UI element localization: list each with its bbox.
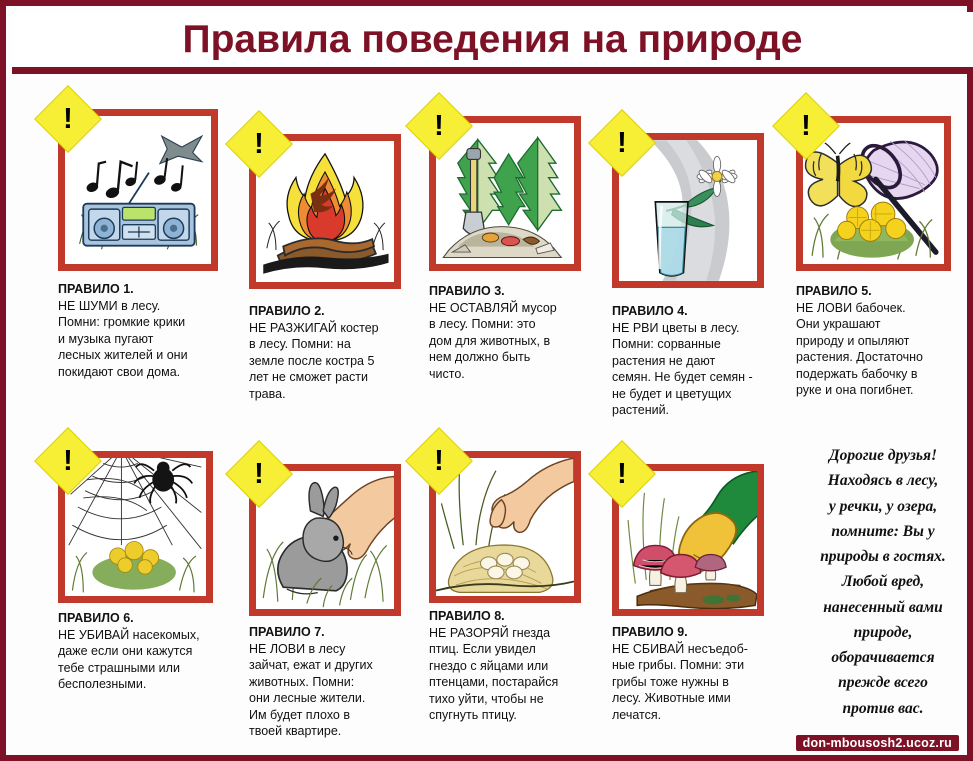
exclamation-icon: !	[45, 96, 91, 142]
rule-number-6: ПРАВИЛО 6.	[58, 610, 240, 627]
exclamation-icon: !	[599, 120, 645, 166]
rule-image-frame-3: !	[429, 116, 581, 271]
warning-badge-1: !	[35, 86, 100, 151]
warning-badge-4: !	[589, 110, 654, 175]
warning-badge-3: !	[406, 93, 471, 158]
warning-badge-2: !	[226, 111, 291, 176]
rule-image-frame-2: !	[249, 134, 401, 289]
rule-number-9: ПРАВИЛО 9.	[612, 624, 792, 641]
exclamation-icon: !	[599, 451, 645, 497]
rule-text-6: НЕ УБИВАЙ насекомых, даже если они кажут…	[58, 627, 240, 693]
rule-text-8: НЕ РАЗОРЯЙ гнезда птиц. Если увидел гнез…	[429, 625, 609, 724]
warning-badge-5: !	[773, 93, 838, 158]
rule-number-4: ПРАВИЛО 4.	[612, 303, 792, 320]
rule-caption-9: ПРАВИЛО 9. НЕ СБИВАЙ несъедоб- ные грибы…	[612, 624, 792, 723]
poster-header: Правила поведения на природе	[12, 12, 973, 74]
rule-caption-6: ПРАВИЛО 6. НЕ УБИВАЙ насекомых, даже есл…	[58, 610, 240, 693]
rule-text-3: НЕ ОСТАВЛЯЙ мусор в лесу. Помни: это дом…	[429, 300, 609, 383]
warning-badge-7: !	[226, 441, 291, 506]
rule-text-9: НЕ СБИВАЙ несъедоб- ные грибы. Помни: эт…	[612, 641, 792, 724]
exclamation-icon: !	[45, 438, 91, 484]
rule-number-3: ПРАВИЛО 3.	[429, 283, 609, 300]
rule-caption-7: ПРАВИЛО 7. НЕ ЛОВИ в лесу зайчат, ежат и…	[249, 624, 429, 740]
rule-text-4: НЕ РВИ цветы в лесу. Помни: сорванные ра…	[612, 320, 792, 419]
rule-caption-8: ПРАВИЛО 8. НЕ РАЗОРЯЙ гнезда птиц. Если …	[429, 608, 609, 724]
page-title: Правила поведения на природе	[183, 18, 803, 62]
rule-image-frame-5: !	[796, 116, 951, 271]
rule-caption-5: ПРАВИЛО 5. НЕ ЛОВИ бабочек. Они украшают…	[796, 283, 973, 399]
exclamation-icon: !	[416, 438, 462, 484]
poster-root: Правила поведения на природе	[0, 0, 973, 761]
exclamation-icon: !	[416, 103, 462, 149]
warning-badge-8: !	[406, 428, 471, 493]
rule-text-5: НЕ ЛОВИ бабочек. Они украшают природу и …	[796, 300, 973, 399]
rule-number-7: ПРАВИЛО 7.	[249, 624, 429, 641]
rule-caption-1: ПРАВИЛО 1. НЕ ШУМИ в лесу. Помни: громки…	[58, 281, 240, 380]
exclamation-icon: !	[236, 451, 282, 497]
rule-image-frame-7: !	[249, 464, 401, 616]
rule-image-frame-6: !	[58, 451, 213, 603]
rule-image-frame-8: !	[429, 451, 581, 603]
rule-number-8: ПРАВИЛО 8.	[429, 608, 609, 625]
warning-badge-6: !	[35, 428, 100, 493]
rules-board: ! ПРАВИЛО 1. НЕ ШУМИ в лесу. Помни: гром…	[12, 81, 973, 761]
rule-caption-4: ПРАВИЛО 4. НЕ РВИ цветы в лесу. Помни: с…	[612, 303, 792, 419]
exclamation-icon: !	[236, 121, 282, 167]
rule-image-frame-4: !	[612, 133, 764, 288]
rule-text-2: НЕ РАЗЖИГАЙ костер в лесу. Помни: на зем…	[249, 320, 429, 403]
rule-number-1: ПРАВИЛО 1.	[58, 281, 240, 298]
exclamation-icon: !	[783, 103, 829, 149]
rule-number-2: ПРАВИЛО 2.	[249, 303, 429, 320]
rule-image-frame-1: !	[58, 109, 218, 271]
rule-text-1: НЕ ШУМИ в лесу. Помни: громкие крики и м…	[58, 298, 240, 381]
warning-badge-9: !	[589, 441, 654, 506]
rule-caption-2: ПРАВИЛО 2. НЕ РАЗЖИГАЙ костер в лесу. По…	[249, 303, 429, 402]
rule-image-frame-9: !	[612, 464, 764, 616]
closing-note: Дорогие друзья! Находясь в лесу, у речки…	[790, 443, 973, 721]
rule-number-5: ПРАВИЛО 5.	[796, 283, 973, 300]
watermark: don-mbousosh2.ucoz.ru	[796, 735, 959, 751]
rule-caption-3: ПРАВИЛО 3. НЕ ОСТАВЛЯЙ мусор в лесу. Пом…	[429, 283, 609, 382]
rule-text-7: НЕ ЛОВИ в лесу зайчат, ежат и других жив…	[249, 641, 429, 740]
